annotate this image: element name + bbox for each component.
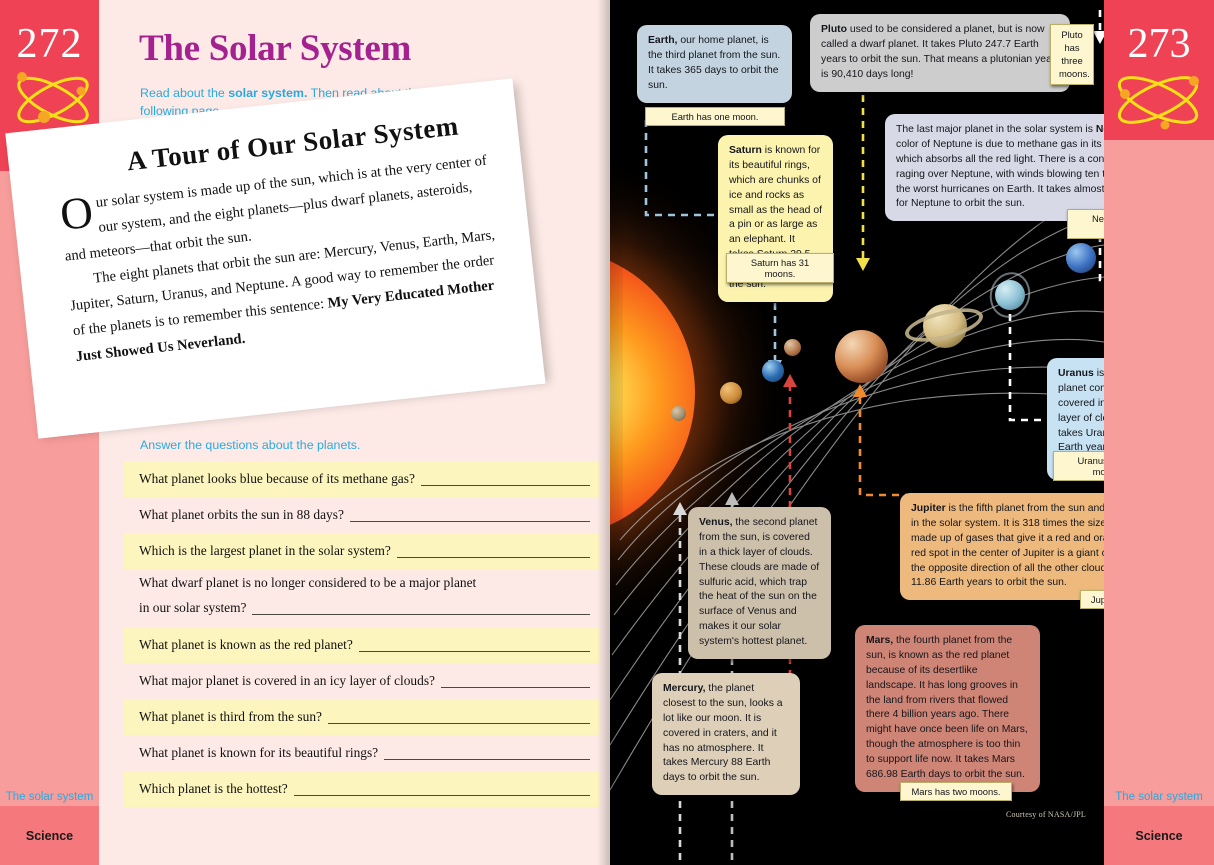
planet-earth	[762, 360, 784, 382]
answer-blank[interactable]	[350, 509, 590, 522]
callout-neptune-prefix: The last major planet in the solar syste…	[896, 124, 1096, 135]
callout-jupiter-text: is the fifth planet from the sun and the…	[911, 503, 1104, 588]
moonnote-jupiter-text: Jupiter has 63 moons!	[1091, 594, 1104, 605]
moonnote-pluto-text: Pluto has three moons.	[1059, 29, 1090, 79]
left-page-content: The Solar System Read about the solar sy…	[99, 0, 610, 865]
callout-earth: Earth, our home planet, is the third pla…	[637, 25, 792, 103]
planet-saturn	[905, 298, 983, 338]
answer-blank[interactable]	[252, 602, 590, 615]
answer-blank[interactable]	[328, 711, 590, 724]
moonnote-jupiter: Jupiter has 63 moons!	[1080, 590, 1104, 609]
answer-blank[interactable]	[397, 545, 590, 558]
moonnote-pluto: Pluto has three moons.	[1050, 24, 1094, 85]
planet-jupiter	[835, 330, 888, 383]
questions-list: What planet looks blue because of its me…	[124, 461, 600, 807]
planet-neptune	[1066, 243, 1096, 273]
question-text: What planet is known as the red planet?	[139, 637, 353, 653]
question-text: What major planet is covered in an icy l…	[139, 673, 435, 689]
torn-paper-article: A Tour of Our Solar System Our solar sys…	[5, 78, 544, 431]
callout-jupiter: Jupiter is the fifth planet from the sun…	[900, 493, 1104, 600]
footer-subject-right: Science	[1104, 806, 1214, 865]
moonnote-earth-text: Earth has one moon.	[671, 111, 758, 122]
answer-blank[interactable]	[421, 473, 590, 486]
callout-mars-text: the fourth planet from the sun, is known…	[866, 635, 1028, 780]
textbook-spread: 272 The Solar System Read about the sola…	[0, 0, 1214, 865]
article-dropcap: O	[58, 191, 98, 234]
footer-topic-left: The solar system	[0, 790, 99, 806]
question-row: What planet is known as the red planet?	[124, 627, 600, 663]
moonnote-uranus-text: Uranus has 27 moons.	[1078, 455, 1105, 477]
moonnote-mars-text: Mars has two moons.	[911, 786, 1000, 797]
question-row: What planet is third from the sun?	[124, 699, 600, 735]
callout-mercury-text: the planet closest to the sun, looks a l…	[663, 683, 783, 783]
answer-blank[interactable]	[441, 675, 590, 688]
question-row: What planet orbits the sun in 88 days?	[124, 497, 600, 533]
planet-mars	[784, 339, 801, 356]
left-page: 272 The Solar System Read about the sola…	[0, 0, 610, 865]
question-text: Which planet is the hottest?	[139, 781, 288, 797]
answer-blank[interactable]	[384, 747, 590, 760]
questions-heading: Answer the questions about the planets.	[140, 438, 360, 452]
article-body: Our solar system is made up of the sun, …	[58, 149, 504, 370]
question-text: What planet is third from the sun?	[139, 709, 322, 725]
intro-before: Read about the	[140, 86, 228, 100]
question-row: What major planet is covered in an icy l…	[124, 663, 600, 699]
planet-venus	[720, 382, 742, 404]
atom-icon-right	[1108, 58, 1208, 143]
callout-mercury-label: Mercury,	[663, 683, 706, 694]
callout-neptune-text: The blue color of Neptune is due to meth…	[896, 124, 1104, 209]
question-text: What planet looks blue because of its me…	[139, 471, 415, 487]
callout-mercury: Mercury, the planet closest to the sun, …	[652, 673, 800, 795]
callout-venus-label: Venus,	[699, 517, 733, 528]
space-illustration: Earth, our home planet, is the third pla…	[610, 0, 1104, 865]
question-row: What planet looks blue because of its me…	[124, 461, 600, 497]
callout-jupiter-label: Jupiter	[911, 503, 946, 514]
moonnote-saturn-text: Saturn has 31 moons.	[751, 257, 809, 279]
question-text-line2: in our solar system?	[139, 600, 590, 616]
moonnote-saturn: Saturn has 31 moons.	[726, 253, 834, 283]
moonnote-uranus: Uranus has 27 moons.	[1053, 451, 1104, 481]
moonnote-neptune-text: Neptune has eight moons.	[1092, 213, 1104, 235]
question-row: What dwarf planet is no longer considere…	[124, 569, 600, 627]
answer-blank[interactable]	[294, 783, 590, 796]
question-text: What dwarf planet is no longer considere…	[139, 575, 590, 591]
callout-venus-text: the second planet from the sun, is cover…	[699, 517, 819, 647]
footer-subject-left: Science	[0, 806, 99, 865]
question-row: What planet is known for its beautiful r…	[124, 735, 600, 771]
callout-pluto: Pluto used to be considered a planet, bu…	[810, 14, 1070, 92]
planet-mercury	[671, 406, 686, 421]
footer-topic-right: The solar system	[1104, 790, 1214, 806]
callout-pluto-label: Pluto	[821, 24, 847, 35]
callout-neptune: The last major planet in the solar syste…	[885, 114, 1104, 221]
question-row: Which is the largest planet in the solar…	[124, 533, 600, 569]
moonnote-mars: Mars has two moons.	[900, 782, 1012, 801]
question-text: What planet orbits the sun in 88 days?	[139, 507, 344, 523]
right-page: Earth, our home planet, is the third pla…	[610, 0, 1214, 865]
callout-mars: Mars, the fourth planet from the sun, is…	[855, 625, 1040, 792]
callout-neptune-label: Neptune.	[1096, 124, 1104, 135]
callout-earth-label: Earth,	[648, 35, 677, 46]
moonnote-neptune: Neptune has eight moons.	[1067, 209, 1104, 239]
callout-venus: Venus, the second planet from the sun, i…	[688, 507, 831, 659]
moonnote-earth: Earth has one moon.	[645, 107, 785, 126]
question-text: Which is the largest planet in the solar…	[139, 543, 391, 559]
answer-blank[interactable]	[359, 639, 590, 652]
callout-mars-label: Mars,	[866, 635, 893, 646]
callout-uranus-label: Uranus	[1058, 368, 1094, 379]
callout-saturn-label: Saturn	[729, 145, 762, 156]
page-title: The Solar System	[139, 27, 411, 70]
intro-bold: solar system.	[228, 86, 307, 100]
callout-pluto-text: used to be considered a planet, but is n…	[821, 24, 1055, 80]
image-credit: Courtesy of NASA/JPL	[1006, 810, 1086, 819]
question-text-continued: in our solar system?	[139, 600, 246, 616]
question-text: What planet is known for its beautiful r…	[139, 745, 378, 761]
question-row: Which planet is the hottest?	[124, 771, 600, 807]
